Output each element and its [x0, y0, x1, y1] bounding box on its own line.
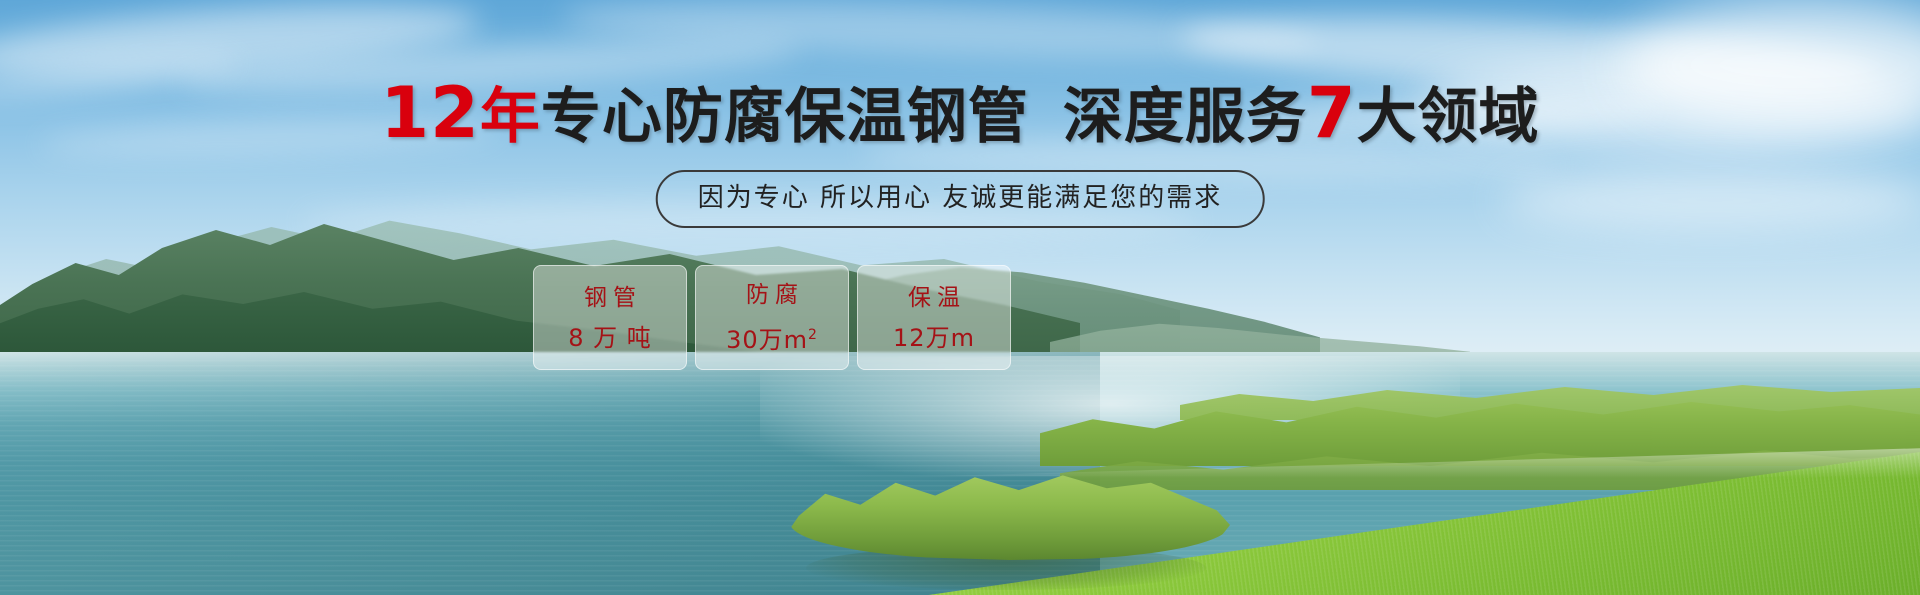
banner-headline: 12年专心防腐保温钢管深度服务7大领域: [0, 80, 1920, 150]
stat-card-value: 12万m: [893, 324, 975, 352]
stat-card-title: 防腐: [740, 281, 804, 309]
banner-subtitle-text: 因为专心 所以用心 友诚更能满足您的需求: [698, 183, 1223, 213]
banner-subtitle-pill: 因为专心 所以用心 友诚更能满足您的需求: [656, 170, 1265, 228]
stat-card-insulation[interactable]: 保温 12万m: [857, 265, 1011, 370]
stat-card-value-base: 8 万 吨: [568, 324, 652, 352]
years-number: 12: [380, 72, 479, 154]
fields-number: 7: [1307, 72, 1357, 154]
stat-card-steel-pipe[interactable]: 钢管 8 万 吨: [533, 265, 687, 370]
stat-card-value-base: 12万m: [893, 324, 975, 352]
promo-banner: 12年专心防腐保温钢管深度服务7大领域 因为专心 所以用心 友诚更能满足您的需求…: [0, 0, 1920, 595]
stat-card-value-superscript: 2: [808, 327, 818, 343]
headline-main-text: 专心防腐保温钢管: [541, 82, 1029, 152]
headline-fields-text: 大领域: [1357, 82, 1540, 152]
stat-card-value: 8 万 吨: [568, 324, 652, 352]
headline-service-text: 深度服务: [1063, 82, 1307, 152]
stat-card-title: 钢管: [578, 284, 642, 312]
banner-content: 12年专心防腐保温钢管深度服务7大领域 因为专心 所以用心 友诚更能满足您的需求…: [0, 0, 1920, 595]
stat-card-group: 钢管 8 万 吨 防腐 30万m2 保温 12万m: [533, 265, 1011, 370]
stat-card-value: 30万m2: [726, 321, 818, 354]
years-unit: 年: [480, 82, 541, 152]
stat-card-value-base: 30万m: [726, 326, 808, 354]
stat-card-title: 保温: [902, 284, 966, 312]
stat-card-anticorrosion[interactable]: 防腐 30万m2: [695, 265, 849, 370]
